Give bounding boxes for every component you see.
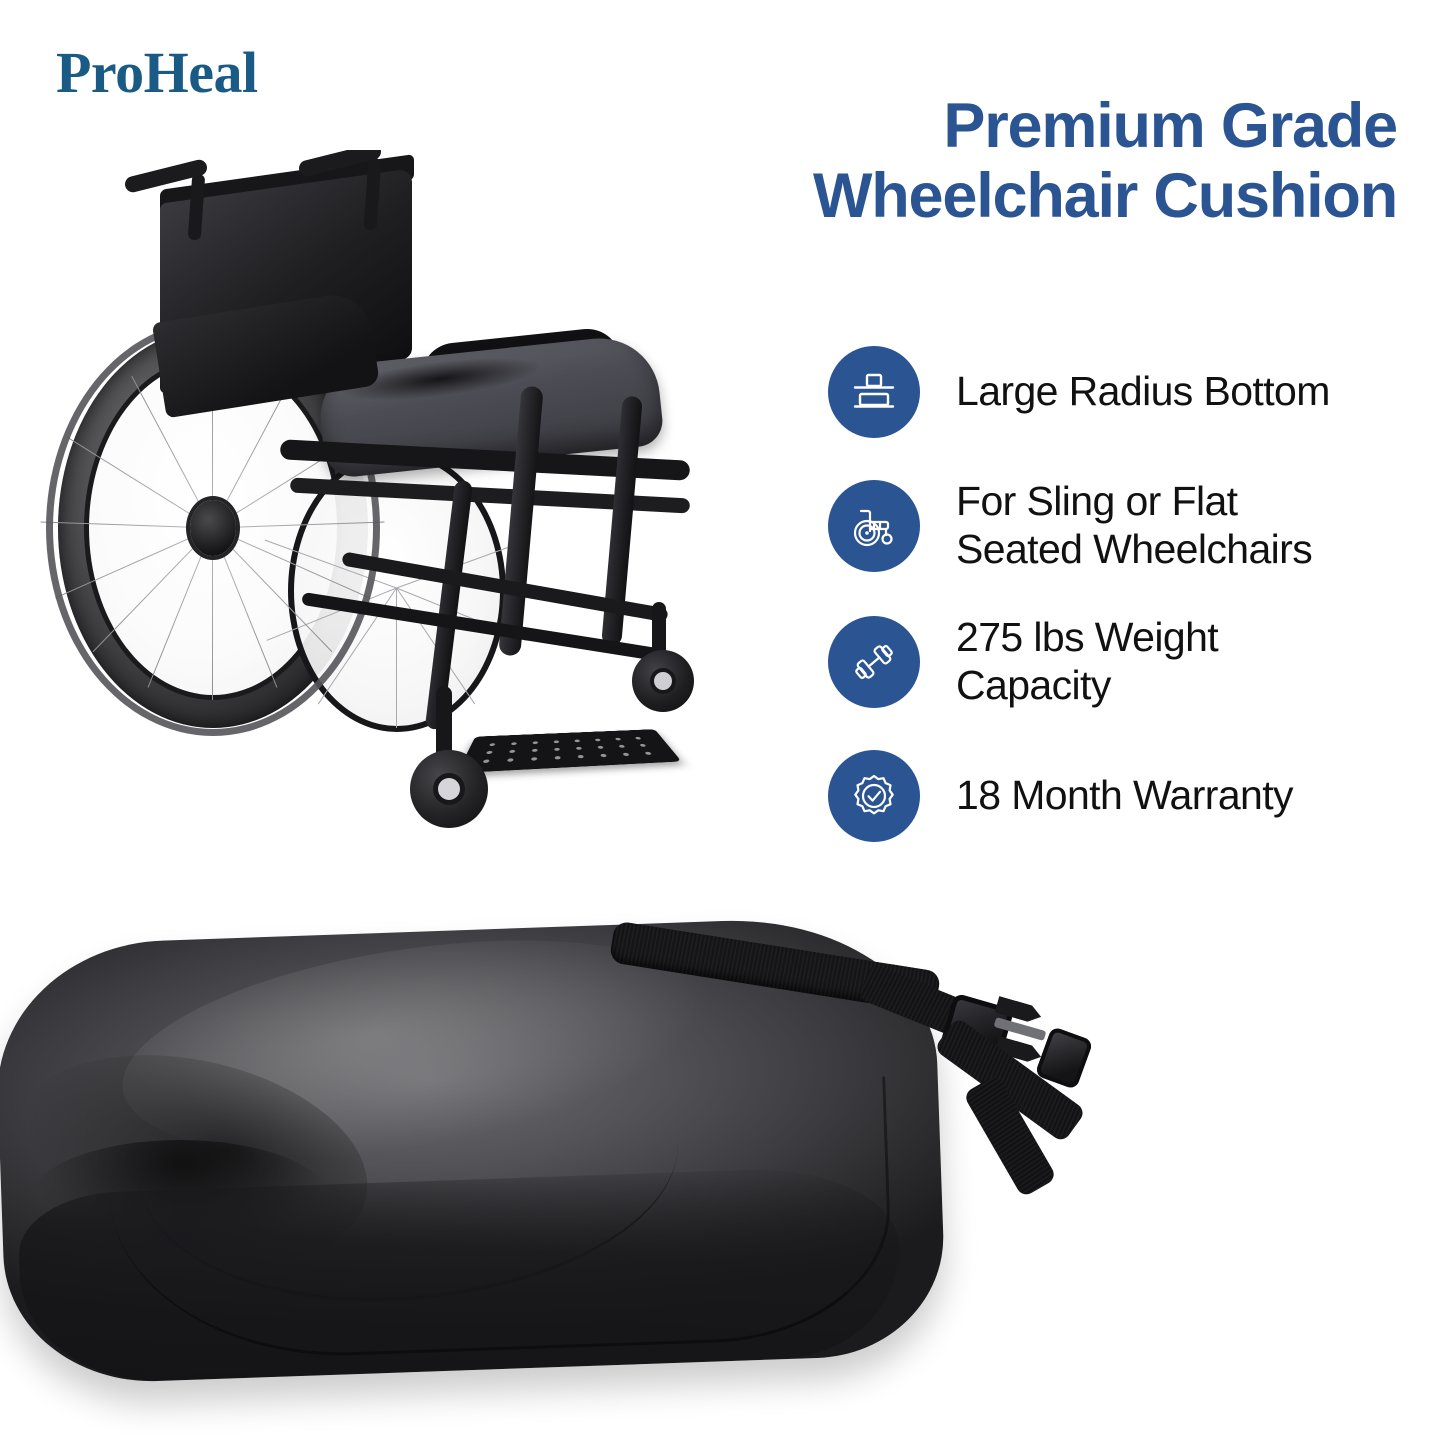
product-infographic-page: ProHeal Premium Grade Wheelchair Cushion (0, 0, 1445, 1445)
front-caster-near-hub (438, 778, 460, 800)
feature-label-line-2: Seated Wheelchairs (956, 526, 1312, 574)
cushion-seam-line (106, 1076, 895, 1363)
wheelchair-product-photo (40, 150, 760, 890)
feature-item-weight-capacity: 275 lbs Weight Capacity (828, 614, 1418, 710)
front-caster-far-hub (654, 672, 672, 690)
feature-label-line-1: 18 Month Warranty (956, 772, 1293, 820)
cushion-product-photo (0, 890, 1120, 1445)
feature-label: For Sling or Flat Seated Wheelchairs (956, 478, 1312, 574)
feature-label-line-1: 275 lbs Weight (956, 614, 1218, 662)
feature-label-line-1: Large Radius Bottom (956, 368, 1330, 416)
platform-radius-bottom-icon (828, 346, 920, 438)
feature-item-large-radius-bottom: Large Radius Bottom (828, 346, 1418, 438)
feature-label: Large Radius Bottom (956, 368, 1330, 416)
feature-label-line-1: For Sling or Flat (956, 478, 1312, 526)
feature-item-sling-or-flat-seated: For Sling or Flat Seated Wheelchairs (828, 478, 1418, 574)
feature-label-line-2: Capacity (956, 662, 1218, 710)
wheelchair-icon (828, 480, 920, 572)
warranty-badge-check-icon (828, 750, 920, 842)
feature-label: 275 lbs Weight Capacity (956, 614, 1218, 710)
feature-list: Large Radius Bottom For Sling o (828, 346, 1418, 842)
feature-label: 18 Month Warranty (956, 772, 1293, 820)
dumbbell-icon (828, 616, 920, 708)
feature-item-warranty: 18 Month Warranty (828, 750, 1418, 842)
brand-logo: ProHeal (56, 44, 258, 102)
wheelchair-illustration (40, 150, 760, 890)
